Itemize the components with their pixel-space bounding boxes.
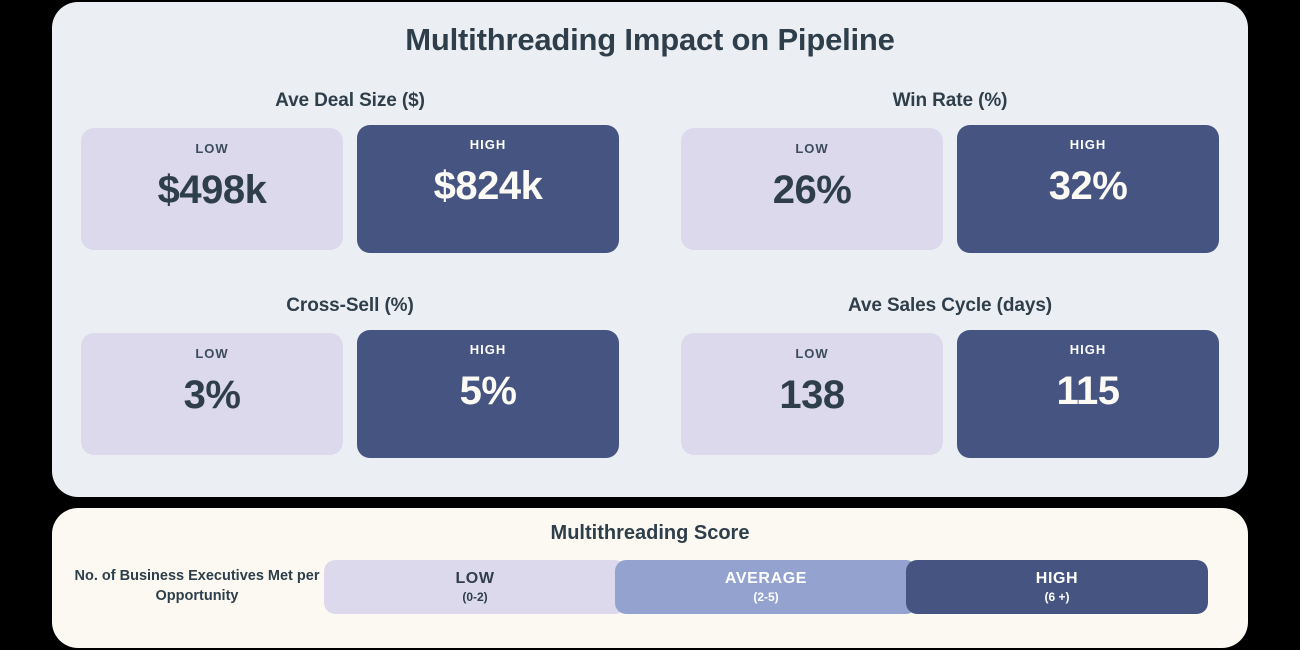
score-title: Multithreading Score <box>52 522 1248 545</box>
metric-card-high[interactable]: HIGH 115 <box>957 330 1219 458</box>
metric-group-cross-sell: Cross-Sell (%) LOW 3% HIGH 5% <box>74 295 626 458</box>
metric-groups: Ave Deal Size ($) LOW $498k HIGH $824k W… <box>74 90 1226 458</box>
card-label-high: HIGH <box>1070 342 1107 357</box>
group-title: Cross-Sell (%) <box>74 295 626 317</box>
score-segment-low[interactable]: LOW (0-2) <box>324 560 626 614</box>
score-segment-high[interactable]: HIGH (6 +) <box>906 560 1208 614</box>
metric-group-ave-sales-cycle: Ave Sales Cycle (days) LOW 138 HIGH 115 <box>674 295 1226 458</box>
metrics-panel: Multithreading Impact on Pipeline Ave De… <box>52 2 1248 497</box>
metric-group-ave-deal-size: Ave Deal Size ($) LOW $498k HIGH $824k <box>74 90 626 253</box>
card-label-high: HIGH <box>470 137 507 152</box>
card-value-low: $498k <box>158 168 267 213</box>
score-segment-label: LOW <box>455 570 494 588</box>
card-label-low: LOW <box>195 346 228 361</box>
score-segment-average[interactable]: AVERAGE (2-5) <box>615 560 917 614</box>
group-title: Win Rate (%) <box>674 90 1226 112</box>
card-value-high: 115 <box>1056 369 1119 414</box>
metric-pair: LOW 138 HIGH 115 <box>674 330 1226 458</box>
score-segment-range: (0-2) <box>462 590 487 604</box>
metric-card-low[interactable]: LOW 138 <box>681 333 943 455</box>
card-value-low: 138 <box>779 373 844 418</box>
card-label-low: LOW <box>795 141 828 156</box>
card-value-high: $824k <box>434 164 543 209</box>
metric-card-low[interactable]: LOW $498k <box>81 128 343 250</box>
score-scale-bar: LOW (0-2) AVERAGE (2-5) HIGH (6 +) <box>324 560 1208 614</box>
metric-pair: LOW $498k HIGH $824k <box>74 125 626 253</box>
metric-card-low[interactable]: LOW 3% <box>81 333 343 455</box>
metric-card-low[interactable]: LOW 26% <box>681 128 943 250</box>
infographic-root: Multithreading Impact on Pipeline Ave De… <box>0 0 1300 650</box>
multithreading-score-panel: Multithreading Score No. of Business Exe… <box>52 508 1248 648</box>
score-segment-label: HIGH <box>1036 570 1078 588</box>
card-value-low: 26% <box>773 168 852 213</box>
card-value-low: 3% <box>184 373 241 418</box>
card-label-high: HIGH <box>470 342 507 357</box>
score-segment-range: (2-5) <box>753 590 778 604</box>
metric-group-win-rate: Win Rate (%) LOW 26% HIGH 32% <box>674 90 1226 253</box>
group-title: Ave Sales Cycle (days) <box>674 295 1226 317</box>
score-row: No. of Business Executives Met per Oppor… <box>52 560 1248 614</box>
score-segment-range: (6 +) <box>1044 590 1069 604</box>
metric-pair: LOW 26% HIGH 32% <box>674 125 1226 253</box>
page-title: Multithreading Impact on Pipeline <box>52 22 1248 58</box>
score-axis-label: No. of Business Executives Met per Oppor… <box>52 567 324 606</box>
metric-card-high[interactable]: HIGH 32% <box>957 125 1219 253</box>
card-value-high: 5% <box>460 369 517 414</box>
card-label-high: HIGH <box>1070 137 1107 152</box>
card-value-high: 32% <box>1049 164 1128 209</box>
metric-card-high[interactable]: HIGH 5% <box>357 330 619 458</box>
metric-card-high[interactable]: HIGH $824k <box>357 125 619 253</box>
card-label-low: LOW <box>195 141 228 156</box>
score-segment-label: AVERAGE <box>725 570 807 588</box>
metric-pair: LOW 3% HIGH 5% <box>74 330 626 458</box>
card-label-low: LOW <box>795 346 828 361</box>
group-title: Ave Deal Size ($) <box>74 90 626 112</box>
